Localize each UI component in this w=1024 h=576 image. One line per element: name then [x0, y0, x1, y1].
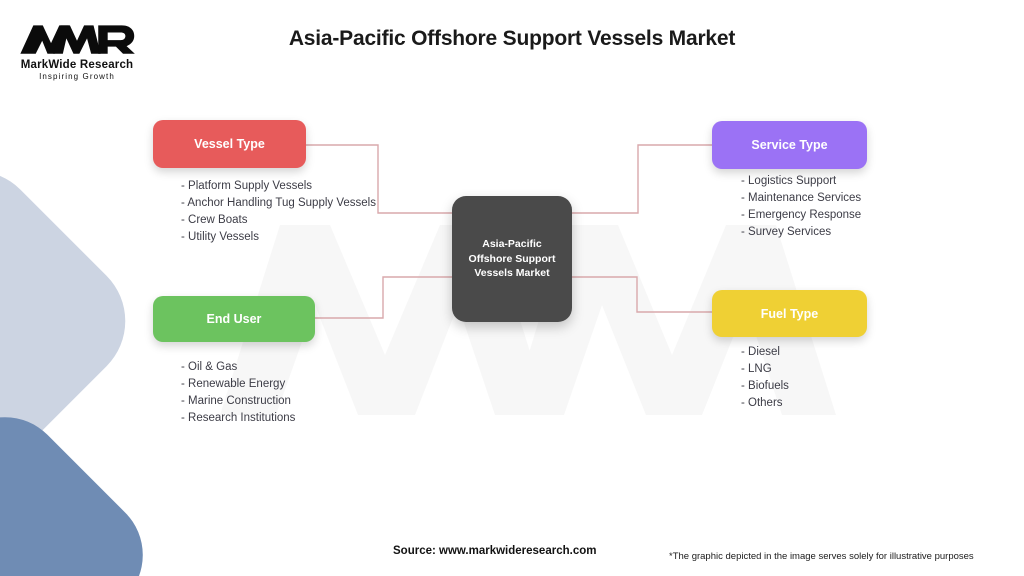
center-node: Asia-Pacific Offshore Support Vessels Ma… — [452, 196, 572, 322]
branch-header-vessel-type[interactable]: Vessel Type — [153, 120, 306, 168]
branch-items-vessel-type: - Platform Supply Vessels - Anchor Handl… — [181, 178, 376, 247]
list-item: - Emergency Response — [741, 207, 861, 224]
list-item: - Maintenance Services — [741, 190, 861, 207]
connector-end-user — [315, 277, 452, 318]
disclaimer-text: *The graphic depicted in the image serve… — [669, 551, 974, 562]
list-item: - Platform Supply Vessels — [181, 178, 376, 195]
list-item: - Renewable Energy — [181, 376, 295, 393]
list-item: - Logistics Support — [741, 173, 861, 190]
branch-label-end-user: End User — [207, 312, 262, 326]
list-item: - LNG — [741, 361, 789, 378]
source-text: Source: www.markwideresearch.com — [393, 545, 596, 557]
list-item: - Survey Services — [741, 224, 861, 241]
center-node-label: Asia-Pacific Offshore Support Vessels Ma… — [452, 237, 572, 282]
branch-header-end-user[interactable]: End User — [153, 296, 315, 342]
list-item: - Crew Boats — [181, 212, 376, 229]
list-item: - Utility Vessels — [181, 229, 376, 246]
connector-fuel-type — [572, 277, 712, 312]
infographic-canvas: MarkWide Research Inspiring Growth Asia-… — [0, 0, 1024, 576]
branch-items-fuel-type: - Diesel - LNG - Biofuels - Others — [741, 344, 789, 413]
list-item: - Diesel — [741, 344, 789, 361]
connector-service-type — [572, 145, 712, 213]
branch-items-service-type: - Logistics Support - Maintenance Servic… — [741, 173, 861, 242]
branch-header-service-type[interactable]: Service Type — [712, 121, 867, 169]
branch-header-fuel-type[interactable]: Fuel Type — [712, 290, 867, 337]
list-item: - Biofuels — [741, 378, 789, 395]
list-item: - Anchor Handling Tug Supply Vessels — [181, 195, 376, 212]
list-item: - Marine Construction — [181, 393, 295, 410]
page-title: Asia-Pacific Offshore Support Vessels Ma… — [0, 27, 1024, 51]
list-item: - Others — [741, 395, 789, 412]
branch-label-vessel-type: Vessel Type — [194, 137, 265, 151]
branch-items-end-user: - Oil & Gas - Renewable Energy - Marine … — [181, 359, 295, 428]
list-item: - Research Institutions — [181, 410, 295, 427]
list-item: - Oil & Gas — [181, 359, 295, 376]
brand-tagline: Inspiring Growth — [18, 72, 136, 81]
branch-label-service-type: Service Type — [751, 138, 827, 152]
branch-label-fuel-type: Fuel Type — [761, 307, 818, 321]
brand-name: MarkWide Research — [18, 59, 136, 71]
